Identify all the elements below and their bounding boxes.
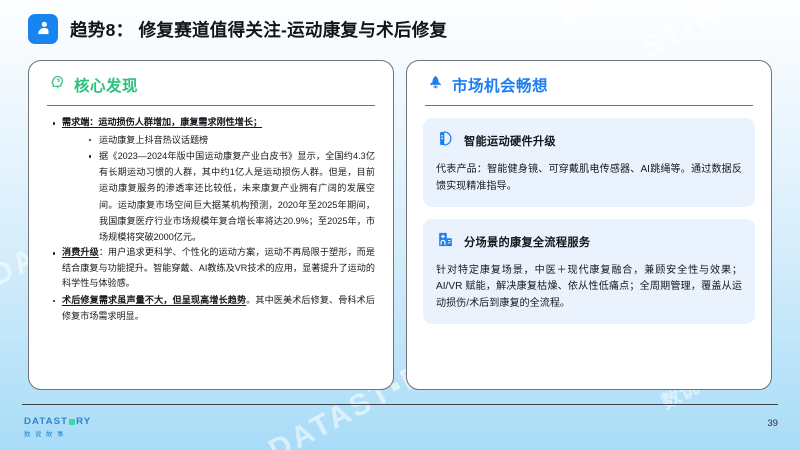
core-findings-title: 核心发现 — [74, 74, 138, 96]
slide: D ST▪R 数说 ST▪R 数说 TA 故事 DA 说故事 DATA DATA… — [0, 0, 800, 450]
logo-square-icon — [69, 419, 75, 425]
subcard-title: 分场景的康复全流程服务 — [464, 234, 590, 250]
bullet-rest: 据《2023—2024年版中国运动康复产业白皮书》显示，全国约4.3亿有长期运动… — [99, 151, 375, 242]
cards-container: 核心发现 需求端：运动损伤人群增加，康复需求刚性增长； 运动康复上抖音热议话题榜… — [28, 60, 772, 390]
subcard-title: 智能运动硬件升级 — [464, 133, 556, 149]
logo-subtitle: 数说故事 — [24, 429, 91, 438]
market-opportunity-card: 市场机会畅想 智能运动硬件升级 代表产品：智能健身镜、可穿戴肌电传感 — [406, 60, 772, 390]
slide-title-row: 趋势8： 修复赛道值得关注-运动康复与术后修复 — [28, 14, 447, 44]
subcard-header: 分场景的康复全流程服务 — [436, 230, 742, 254]
bullet-lead: 需求端：运动损伤人群增加，康复需求刚性增长； — [62, 117, 262, 127]
bullet-item: 需求端：运动损伤人群增加，康复需求刚性增长； — [51, 115, 375, 131]
bullet-item: 运动康复上抖音热议话题榜 — [87, 132, 375, 148]
core-findings-card: 核心发现 需求端：运动损伤人群增加，康复需求刚性增长； 运动康复上抖音热议话题榜… — [28, 60, 394, 390]
footer-divider — [22, 404, 778, 405]
subcard-body: 代表产品：智能健身镜、可穿戴肌电传感器、AI跳绳等。通过数据反馈实现精准指导。 — [436, 162, 742, 195]
page-number: 39 — [767, 418, 778, 429]
page-title: 趋势8： 修复赛道值得关注-运动康复与术后修复 — [70, 17, 447, 42]
subcard-full-process-service: 分场景的康复全流程服务 针对特定康复场景，中医＋现代康复融合，兼顾安全性与效果；… — [423, 219, 755, 324]
datastory-logo: DATAST RY 数说故事 — [24, 416, 91, 438]
logo-text-right: RY — [76, 416, 91, 427]
bullet-lead: 消费升级 — [62, 247, 99, 257]
logo-text-left: DATAST — [24, 416, 68, 427]
brain-head-icon — [49, 74, 66, 96]
bullet-item: 术后修复需求虽声量不大，但呈现高增长趋势。其中医美术后修复、骨科术后修复市场需求… — [51, 293, 375, 324]
header-divider — [47, 105, 375, 106]
subcard-header: 智能运动硬件升级 — [436, 129, 742, 153]
watermark: D — [553, 0, 591, 34]
subcard-body: 针对特定康复场景，中医＋现代康复融合，兼顾安全性与效果；AI/VR 赋能，解决康… — [436, 263, 742, 312]
bullet-lead: 术后修复需求虽声量不大，但呈现高增长趋势 — [62, 295, 246, 305]
bullet-item: 据《2023—2024年版中国运动康复产业白皮书》显示，全国约4.3亿有长期运动… — [87, 148, 375, 245]
header-divider — [425, 105, 753, 106]
bullet-rest: 运动康复上抖音热议话题榜 — [99, 135, 208, 145]
rocket-icon — [427, 74, 444, 96]
market-opportunity-title: 市场机会畅想 — [452, 74, 548, 96]
bullet-item: 消费升级：用户追求更科学、个性化的运动方案，运动不再局限于塑形，而是结合康复与功… — [51, 245, 375, 292]
core-findings-header: 核心发现 — [45, 74, 377, 96]
logo-wordmark: DATAST RY — [24, 416, 91, 427]
core-findings-bullets: 需求端：运动损伤人群增加，康复需求刚性增长； 运动康复上抖音热议话题榜 据《20… — [45, 115, 377, 324]
stretching-person-icon — [28, 14, 58, 44]
smart-mirror-icon — [436, 129, 455, 153]
market-opportunity-header: 市场机会畅想 — [423, 74, 755, 96]
watermark: ST▪R — [637, 0, 726, 65]
hospital-building-icon — [436, 230, 455, 254]
subcard-smart-hardware: 智能运动硬件升级 代表产品：智能健身镜、可穿戴肌电传感器、AI跳绳等。通过数据反… — [423, 118, 755, 207]
bullet-rest: ：用户追求更科学、个性化的运动方案，运动不再局限于塑形，而是结合康复与功能提升。… — [62, 247, 375, 288]
